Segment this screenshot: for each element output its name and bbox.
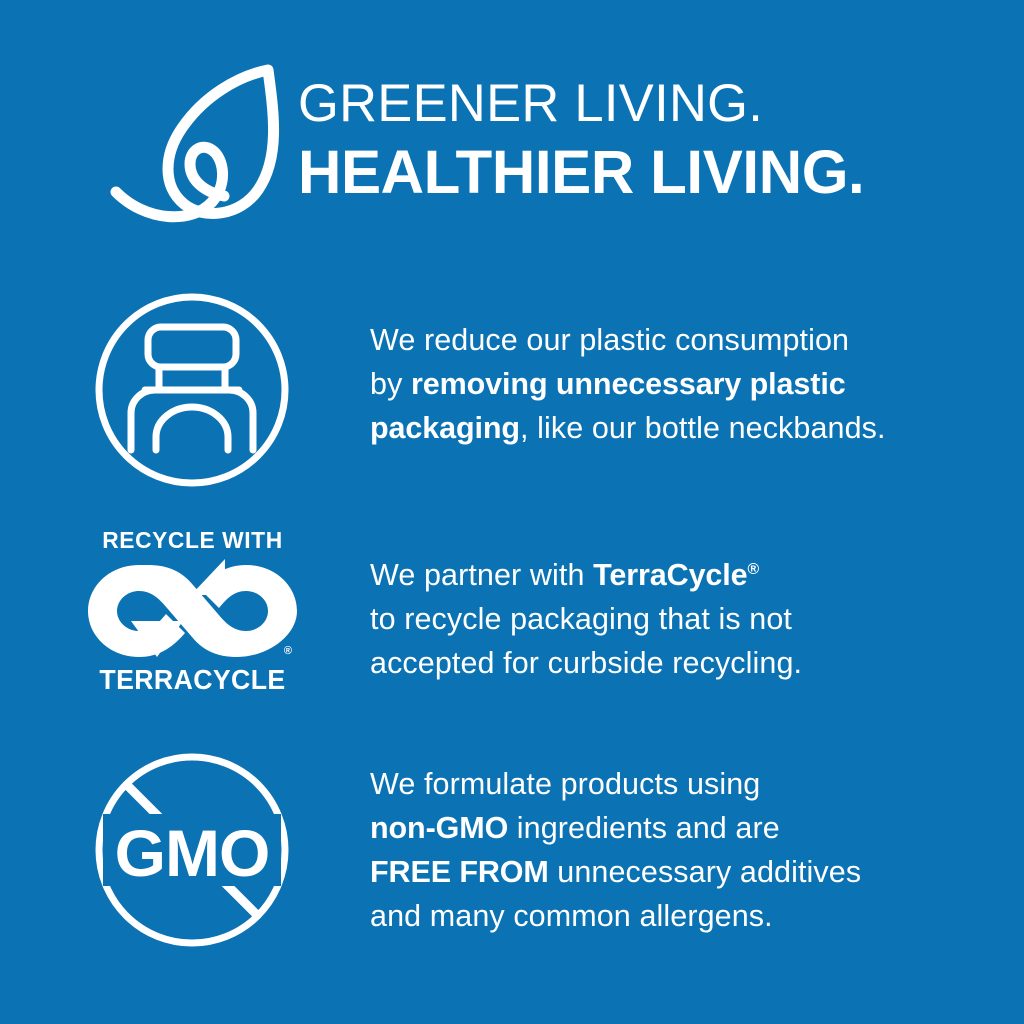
text-run: unnecessary additives [549, 855, 861, 889]
emphasis-run: FREE FROM [370, 855, 549, 889]
emphasis-run: non-GMO [370, 811, 508, 845]
leaf-icon [108, 62, 293, 232]
infinity-recycle-arrows-icon [87, 561, 298, 661]
header-line-1: GREENER LIVING. [298, 74, 991, 134]
row-gmo-line-4: and many common allergens. [370, 894, 990, 938]
header-text-block: GREENER LIVING. HEALTHIER LIVING. [298, 74, 998, 205]
registered-mark: ® [748, 561, 760, 578]
row-terracycle-line-1: We partner with TerraCycle® [370, 553, 990, 597]
gmo-label: GMO [115, 816, 270, 890]
row-plastic: We reduce our plastic consumptionby remo… [0, 290, 1024, 500]
terracycle-top-text: RECYCLE WITH [88, 527, 297, 554]
header: GREENER LIVING. HEALTHIER LIVING. [0, 0, 1024, 250]
row-gmo-line-3: FREE FROM unnecessary additives [370, 850, 990, 894]
row-terracycle-text: We partner with TerraCycle®to recycle pa… [370, 553, 990, 685]
text-run: ingredients and are [508, 811, 780, 845]
row-terracycle: RECYCLE WITH ® TERRACYCLE We partner wit… [0, 525, 1024, 720]
row-gmo-line-1: We formulate products using [370, 762, 990, 806]
emphasis-run: removing unnecessary plastic [411, 367, 846, 401]
text-run: We reduce our plastic consumption [370, 323, 849, 357]
row-plastic-line-2: by removing unnecessary plastic [370, 362, 990, 406]
row-gmo-line-2: non-GMO ingredients and are [370, 806, 990, 850]
text-run: accepted for curbside recycling. [370, 646, 802, 680]
row-gmo: GMO We formulate products usingnon-GMO i… [0, 750, 1024, 960]
text-run: , like our bottle neckbands. [520, 411, 886, 445]
emphasis-run: packaging [370, 411, 520, 445]
terracycle-logo: RECYCLE WITH ® TERRACYCLE [85, 525, 300, 710]
row-plastic-text: We reduce our plastic consumptionby remo… [370, 318, 990, 450]
terracycle-bottom-text: TERRACYCLE [88, 664, 297, 696]
text-run: to recycle packaging that is not [370, 602, 792, 636]
row-plastic-line-3: packaging, like our bottle neckbands. [370, 406, 990, 450]
row-plastic-line-1: We reduce our plastic consumption [370, 318, 990, 362]
row-terracycle-line-3: accepted for curbside recycling. [370, 641, 990, 685]
infographic-page: GREENER LIVING. HEALTHIER LIVING. We red… [0, 0, 1024, 1024]
row-terracycle-line-2: to recycle packaging that is not [370, 597, 990, 641]
no-gmo-icon: GMO [85, 750, 300, 950]
text-run: We formulate products using [370, 767, 760, 801]
terracycle-registered-mark: ® [284, 645, 292, 657]
emphasis-run: TerraCycle [593, 558, 747, 592]
bottle-neckband-icon [85, 290, 300, 490]
header-line-2: HEALTHIER LIVING. [298, 139, 988, 205]
row-gmo-text: We formulate products usingnon-GMO ingre… [370, 762, 990, 938]
text-run: We partner with [370, 558, 593, 592]
text-run: and many common allergens. [370, 899, 773, 933]
text-run: by [370, 367, 411, 401]
